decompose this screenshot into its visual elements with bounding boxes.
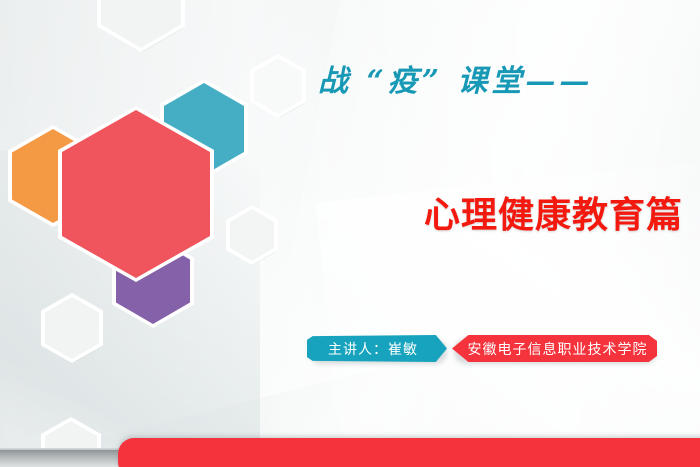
bottom-red-bar (118, 438, 700, 467)
slide-kicker-title: 战 “疫” 课堂—— (318, 56, 593, 100)
presentation-slide: 战 “疫” 课堂—— 心理健康教育篇 主讲人：崔敏 安徽电子信息职业技术学院 (0, 0, 700, 467)
hexagon-white-top (101, 0, 181, 48)
speaker-label: 主讲人：崔敏 (328, 339, 418, 359)
organization-label: 安徽电子信息职业技术学院 (468, 339, 648, 359)
speaker-ribbon: 主讲人：崔敏 (307, 335, 447, 362)
organization-ribbon: 安徽电子信息职业技术学院 (452, 335, 657, 362)
slide-main-title: 心理健康教育篇 (424, 186, 683, 238)
